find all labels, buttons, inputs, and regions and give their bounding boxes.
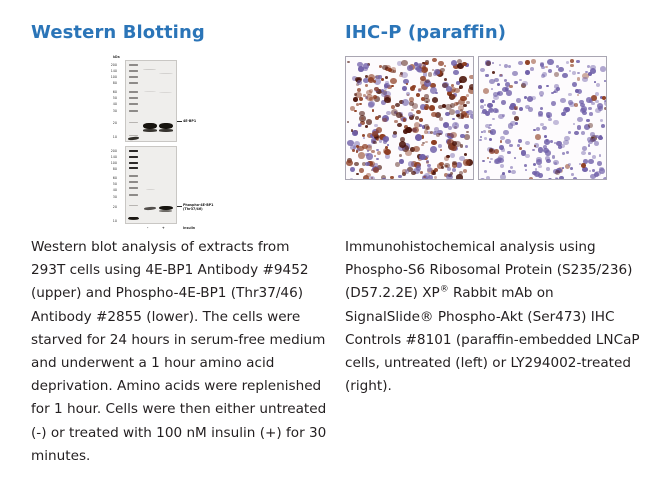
ihc-stained-nucleus <box>560 98 566 103</box>
lane-artifact <box>144 91 156 92</box>
ihc-stained-nucleus <box>382 65 388 71</box>
ihc-stained-nucleus <box>569 70 571 72</box>
ihc-stained-nucleus <box>460 144 464 148</box>
ihc-stained-nucleus <box>426 155 429 158</box>
ihc-stained-nucleus <box>574 103 578 107</box>
ladder-value-30-lower: 30 <box>106 196 117 200</box>
ihc-stained-nucleus <box>453 70 458 75</box>
marker-band <box>129 70 138 72</box>
ihc-stained-nucleus <box>428 72 433 77</box>
ihc-stained-nucleus <box>546 85 549 88</box>
ihc-stained-nucleus <box>450 132 457 138</box>
ihc-stained-nucleus <box>499 64 502 66</box>
ihc-stained-nucleus <box>599 154 602 157</box>
ihc-stained-nucleus <box>463 169 467 173</box>
ihc-stained-nucleus <box>434 176 437 179</box>
ihc-stained-nucleus <box>443 122 449 128</box>
ihc-stained-nucleus <box>560 144 565 149</box>
ihc-stained-nucleus <box>354 110 356 112</box>
ladder-value-40-lower: 40 <box>106 189 117 193</box>
ihc-stained-nucleus <box>358 152 365 158</box>
ihc-stained-nucleus <box>466 131 469 134</box>
ihc-stained-nucleus <box>588 159 594 165</box>
ihc-stained-nucleus <box>582 77 587 82</box>
ladder-value-20-lower: 20 <box>106 206 117 210</box>
ihc-stained-nucleus <box>503 130 509 135</box>
ihc-stained-nucleus <box>444 65 446 67</box>
ihc-stained-nucleus <box>518 139 522 143</box>
ihc-stained-nucleus <box>489 79 495 85</box>
ihc-panel-ly294002-treated <box>478 56 607 180</box>
lane-label-plus: + <box>162 226 165 230</box>
ladder-value-100: 100 <box>106 76 117 80</box>
ihc-stained-nucleus <box>544 135 547 138</box>
ihc-stained-nucleus <box>589 170 591 172</box>
ihc-stained-nucleus <box>562 73 567 78</box>
ihc-stained-nucleus <box>480 99 484 103</box>
ihc-stained-nucleus <box>347 61 350 64</box>
ihc-stained-nucleus <box>588 144 591 147</box>
ladder-value-140: 140 <box>106 70 117 74</box>
ihc-stained-nucleus <box>347 121 350 124</box>
ihc-stained-nucleus <box>514 81 518 84</box>
lane-artifact <box>159 92 172 93</box>
ihc-stained-nucleus <box>577 72 580 75</box>
ihc-stained-nucleus <box>568 163 572 167</box>
ihc-stained-nucleus <box>375 76 378 79</box>
ihc-stained-nucleus <box>369 97 373 101</box>
ihc-stained-nucleus <box>602 96 606 100</box>
ihc-stained-nucleus <box>363 63 369 69</box>
ihc-stained-nucleus <box>398 175 402 179</box>
ladder-value-10: 10 <box>106 136 117 140</box>
ihc-stained-nucleus <box>484 170 488 173</box>
ihc-stained-nucleus <box>574 131 579 136</box>
ihc-stained-nucleus <box>426 161 429 164</box>
ihc-stained-nucleus <box>412 127 419 134</box>
ihc-stained-nucleus <box>532 149 535 151</box>
ihc-stained-nucleus <box>390 78 397 84</box>
ihc-stained-nucleus <box>545 66 548 69</box>
ihc-stained-nucleus <box>518 61 523 66</box>
ihc-stained-nucleus <box>392 134 397 139</box>
ihc-stained-nucleus <box>407 65 413 71</box>
ihc-stained-nucleus <box>467 110 473 115</box>
ihc-figure <box>345 56 645 236</box>
ihc-stained-nucleus <box>371 179 377 180</box>
ihc-stained-nucleus <box>562 152 565 155</box>
ihc-stained-nucleus <box>368 102 374 108</box>
ihc-stained-nucleus <box>351 129 354 131</box>
caption-western-blotting: Western blot analysis of extracts from 2… <box>31 236 327 468</box>
ihc-stained-nucleus <box>446 174 453 180</box>
ihc-stained-nucleus <box>452 122 459 129</box>
ihc-stained-nucleus <box>449 109 455 115</box>
ihc-stained-nucleus <box>510 121 516 126</box>
caption-ihc-part2: Rabbit mAb on SignalSlide® Phospho-Akt (… <box>345 285 640 394</box>
ihc-stained-nucleus <box>383 136 389 142</box>
ihc-stained-nucleus <box>582 111 587 115</box>
ladder-value-80: 80 <box>106 82 117 86</box>
ihc-stained-nucleus <box>600 66 606 72</box>
ihc-stained-nucleus <box>373 141 377 145</box>
ihc-stained-nucleus <box>356 173 359 175</box>
ihc-stained-nucleus <box>501 100 506 105</box>
ihc-stained-nucleus <box>579 100 584 104</box>
ihc-stained-nucleus <box>588 152 591 155</box>
ihc-stained-nucleus <box>391 85 393 87</box>
ihc-stained-nucleus <box>586 119 590 123</box>
ihc-stained-nucleus <box>439 133 442 136</box>
ihc-stained-nucleus <box>525 154 530 158</box>
ihc-stained-nucleus <box>531 59 537 64</box>
ihc-stained-nucleus <box>555 177 558 180</box>
ihc-stained-nucleus <box>440 149 443 152</box>
ihc-stained-nucleus <box>411 109 414 112</box>
ihc-stained-nucleus <box>566 61 569 64</box>
ladder-value-50: 50 <box>106 97 117 101</box>
ihc-stained-nucleus <box>450 145 457 151</box>
ihc-stained-nucleus <box>511 170 516 175</box>
ihc-stained-nucleus <box>482 160 484 162</box>
marker-band <box>129 167 138 169</box>
ladder-value-20: 20 <box>106 122 117 126</box>
ihc-stained-nucleus <box>377 151 382 156</box>
ladder-value-30: 30 <box>106 110 117 114</box>
marker-band <box>129 97 138 99</box>
ihc-stained-nucleus <box>382 178 386 180</box>
ihc-stained-nucleus <box>570 64 574 68</box>
ihc-stained-nucleus <box>374 163 377 166</box>
marker-band <box>129 150 138 152</box>
ihc-stained-nucleus <box>352 149 355 152</box>
ihc-stained-nucleus <box>564 136 570 141</box>
ihc-stained-nucleus <box>604 107 607 110</box>
figure-page: Western Blotting kDa 200 140 100 80 60 5… <box>0 0 646 494</box>
ihc-stained-nucleus <box>541 66 545 70</box>
ihc-stained-nucleus <box>595 100 599 103</box>
ihc-stained-nucleus <box>452 168 456 172</box>
ihc-stained-nucleus <box>365 162 370 166</box>
ihc-stained-nucleus <box>439 117 444 122</box>
upper-target-label: 4E-BP1 <box>183 119 196 123</box>
ihc-stained-nucleus <box>492 62 494 64</box>
ladder-value-40: 40 <box>106 103 117 107</box>
ihc-stained-nucleus <box>452 141 458 146</box>
ihc-stained-nucleus <box>535 134 541 140</box>
ihc-stained-nucleus <box>500 140 503 143</box>
ihc-stained-nucleus <box>356 145 359 148</box>
ihc-stained-nucleus <box>498 114 504 120</box>
ihc-stained-nucleus <box>563 108 569 113</box>
ihc-stained-nucleus <box>596 83 600 87</box>
ihc-stained-nucleus <box>493 108 498 113</box>
lane-artifact <box>159 73 173 74</box>
ihc-stained-nucleus <box>384 87 387 90</box>
ihc-stained-nucleus <box>384 149 391 155</box>
ihc-stained-nucleus <box>536 127 540 131</box>
ihc-stained-nucleus <box>395 103 400 107</box>
ihc-stained-nucleus <box>582 146 587 151</box>
ladder-value-200: 200 <box>106 64 117 68</box>
ihc-stained-nucleus <box>371 150 375 154</box>
ladder-value-60: 60 <box>106 91 117 95</box>
ihc-stained-nucleus <box>581 163 587 168</box>
ihc-stained-nucleus <box>438 144 442 148</box>
ihc-stained-nucleus <box>431 112 437 117</box>
ihc-stained-nucleus <box>420 171 423 174</box>
ihc-stained-nucleus <box>375 116 379 120</box>
ihc-stained-nucleus <box>415 134 422 141</box>
ihc-stained-nucleus <box>500 164 504 168</box>
ihc-stained-nucleus <box>456 81 460 85</box>
ihc-stained-nucleus <box>366 119 372 125</box>
ihc-stained-nucleus <box>366 90 372 96</box>
ihc-stained-nucleus <box>522 81 528 87</box>
marker-band <box>129 205 138 206</box>
ihc-stained-nucleus <box>492 100 495 103</box>
ihc-stained-nucleus <box>487 157 489 159</box>
ihc-stained-nucleus <box>445 133 449 137</box>
caption-ihc-p: Immunohistochemical analysis using Phosp… <box>345 236 641 398</box>
ihc-stained-nucleus <box>589 112 593 116</box>
ihc-stained-nucleus <box>554 84 559 89</box>
ihc-stained-nucleus <box>539 91 545 96</box>
ihc-stained-nucleus <box>495 158 501 164</box>
ihc-stained-nucleus <box>391 67 397 72</box>
ihc-stained-nucleus <box>577 117 582 122</box>
ihc-stained-nucleus <box>497 83 500 86</box>
ihc-stained-nucleus <box>346 160 353 167</box>
ihc-stained-nucleus <box>378 75 382 78</box>
ihc-stained-nucleus <box>399 154 402 157</box>
ihc-stained-nucleus <box>521 150 527 155</box>
ihc-stained-nucleus <box>365 84 368 87</box>
ihc-stained-nucleus <box>416 93 420 97</box>
ihc-stained-nucleus <box>577 94 579 96</box>
ihc-stained-nucleus <box>483 88 489 94</box>
ihc-stained-nucleus <box>597 161 602 166</box>
ihc-stained-nucleus <box>480 68 485 73</box>
ihc-stained-nucleus <box>382 118 386 122</box>
ihc-stained-nucleus <box>359 97 364 101</box>
ihc-stained-nucleus <box>572 71 576 75</box>
ihc-stained-nucleus <box>547 115 550 118</box>
ihc-stained-nucleus <box>412 103 418 109</box>
ihc-stained-nucleus <box>426 101 428 103</box>
marker-band <box>129 82 138 84</box>
ihc-stained-nucleus <box>606 167 607 171</box>
ihc-stained-nucleus <box>459 76 466 83</box>
ihc-stained-nucleus <box>485 74 489 78</box>
ihc-stained-nucleus <box>454 102 458 106</box>
kda-axis-label: kDa <box>113 55 120 59</box>
ihc-stained-nucleus <box>350 167 355 172</box>
ihc-panel-untreated <box>345 56 474 180</box>
ihc-stained-nucleus <box>373 167 380 173</box>
ihc-stained-nucleus <box>548 178 552 180</box>
ihc-stained-nucleus <box>357 88 362 92</box>
ihc-stained-nucleus <box>421 144 424 147</box>
ihc-stained-nucleus <box>508 65 511 68</box>
ihc-stained-nucleus <box>576 60 580 64</box>
ihc-stained-nucleus <box>512 111 516 115</box>
ihc-stained-nucleus <box>444 78 447 81</box>
ihc-stained-nucleus <box>427 167 432 172</box>
ihc-stained-nucleus <box>489 138 493 141</box>
target-band-insulin-lower <box>159 129 173 132</box>
ihc-stained-nucleus <box>529 177 534 180</box>
marker-band <box>129 156 138 158</box>
ihc-stained-nucleus <box>519 147 522 150</box>
ihc-stained-nucleus <box>363 137 366 139</box>
ihc-stained-nucleus <box>401 72 408 79</box>
ihc-stained-nucleus <box>464 134 470 140</box>
ihc-stained-nucleus <box>424 124 430 129</box>
ihc-stained-nucleus <box>397 123 402 127</box>
ihc-stained-nucleus <box>530 67 534 71</box>
ihc-stained-nucleus <box>432 172 436 176</box>
ihc-stained-nucleus <box>359 103 362 106</box>
ihc-stained-nucleus <box>514 106 518 109</box>
ihc-stained-nucleus <box>524 164 527 167</box>
ihc-stained-nucleus <box>555 170 560 175</box>
ihc-stained-nucleus <box>573 177 577 180</box>
ihc-stained-nucleus <box>492 71 496 74</box>
ihc-stained-nucleus <box>514 157 517 159</box>
ihc-stained-nucleus <box>525 141 529 145</box>
ihc-stained-nucleus <box>489 161 492 164</box>
ihc-stained-nucleus <box>494 149 499 154</box>
ihc-stained-nucleus <box>419 118 424 123</box>
ihc-stained-nucleus <box>554 162 558 165</box>
ihc-stained-nucleus <box>546 167 550 171</box>
ihc-stained-nucleus <box>553 120 559 126</box>
ihc-stained-nucleus <box>542 72 548 77</box>
ihc-stained-nucleus <box>486 61 492 66</box>
ihc-stained-nucleus <box>431 140 437 146</box>
ihc-stained-nucleus <box>406 179 411 180</box>
ihc-stained-nucleus <box>571 173 574 175</box>
ihc-stained-nucleus <box>480 136 482 138</box>
ihc-stained-nucleus <box>452 161 457 165</box>
ihc-stained-nucleus <box>416 110 421 114</box>
ihc-stained-nucleus <box>603 177 608 180</box>
ihc-stained-nucleus <box>510 166 514 170</box>
ihc-stained-nucleus <box>374 155 377 157</box>
ihc-stained-nucleus <box>509 144 513 148</box>
ihc-stained-nucleus <box>353 97 358 102</box>
ihc-stained-nucleus <box>473 94 474 99</box>
ihc-stained-nucleus <box>386 111 391 116</box>
lane-artifact <box>146 189 155 190</box>
ihc-stained-nucleus <box>525 60 530 64</box>
ihc-stained-nucleus <box>573 123 575 125</box>
ihc-stained-nucleus <box>464 124 469 128</box>
ihc-stained-nucleus <box>519 107 523 111</box>
ihc-stained-nucleus <box>405 150 411 156</box>
ihc-stained-nucleus <box>363 94 366 97</box>
ihc-stained-nucleus <box>405 169 410 174</box>
ihc-stained-nucleus <box>566 151 569 154</box>
ihc-stained-nucleus <box>469 75 474 80</box>
ihc-stained-nucleus <box>551 101 557 106</box>
ihc-stained-nucleus <box>432 97 438 103</box>
ihc-stained-nucleus <box>568 131 571 134</box>
marker-band <box>129 175 138 177</box>
ihc-stained-nucleus <box>512 71 518 76</box>
ihc-stained-nucleus <box>358 66 364 71</box>
ihc-stained-nucleus <box>577 77 581 80</box>
ihc-stained-nucleus <box>542 126 547 131</box>
ihc-stained-nucleus <box>540 107 543 110</box>
ihc-stained-nucleus <box>590 68 596 74</box>
ihc-stained-nucleus <box>416 166 422 171</box>
ihc-stained-nucleus <box>581 151 586 156</box>
ihc-stained-nucleus <box>411 171 416 176</box>
ihc-stained-nucleus <box>362 134 365 137</box>
ihc-stained-nucleus <box>525 70 530 75</box>
blot-panel-lower <box>125 146 177 224</box>
ihc-stained-nucleus <box>359 168 364 173</box>
ihc-stained-nucleus <box>594 172 599 177</box>
ihc-stained-nucleus <box>561 112 565 116</box>
ihc-stained-nucleus <box>424 130 428 134</box>
ihc-stained-nucleus <box>604 80 606 82</box>
ihc-stained-nucleus <box>570 167 573 170</box>
target-band-untreated-lower <box>143 129 157 132</box>
ihc-stained-nucleus <box>486 176 491 180</box>
ihc-stained-nucleus <box>430 146 437 153</box>
ihc-stained-nucleus <box>570 59 574 63</box>
ihc-stained-nucleus <box>444 156 449 161</box>
panel-ihc-p: IHC-P (paraffin) Immunohistochemical ana… <box>345 0 645 236</box>
ihc-stained-nucleus <box>491 88 494 91</box>
ihc-stained-nucleus <box>350 178 353 180</box>
ihc-stained-nucleus <box>538 85 542 89</box>
ihc-stained-nucleus <box>559 176 564 180</box>
ihc-stained-nucleus <box>464 153 467 156</box>
ihc-stained-nucleus <box>356 150 359 153</box>
ihc-stained-nucleus <box>466 101 469 104</box>
ihc-stained-nucleus <box>456 174 463 180</box>
ihc-stained-nucleus <box>372 109 375 112</box>
ihc-stained-nucleus <box>450 94 456 100</box>
ihc-stained-nucleus <box>594 141 599 146</box>
marker-band <box>129 162 138 164</box>
ihc-stained-nucleus <box>365 125 368 128</box>
ihc-stained-nucleus <box>439 162 444 166</box>
ihc-stained-nucleus <box>367 150 370 153</box>
ladder-value-140-lower: 140 <box>106 156 117 160</box>
marker-band <box>129 76 138 78</box>
western-blot-image: kDa 200 140 100 80 60 50 40 30 20 10 200 <box>104 56 216 229</box>
ihc-stained-nucleus <box>434 69 441 75</box>
ihc-stained-nucleus <box>402 86 408 91</box>
ihc-stained-nucleus <box>483 130 486 133</box>
ihc-stained-nucleus <box>547 59 553 65</box>
marker-smear <box>128 136 139 140</box>
ihc-stained-nucleus <box>516 98 522 103</box>
ihc-stained-nucleus <box>419 154 426 161</box>
ihc-stained-nucleus <box>588 107 592 110</box>
panel-western-blotting: Western Blotting kDa 200 140 100 80 60 5… <box>31 0 331 236</box>
marker-band <box>129 187 138 189</box>
ihc-stained-nucleus <box>399 159 404 164</box>
ihc-stained-nucleus <box>601 124 605 128</box>
ihc-stained-nucleus <box>599 168 605 174</box>
ihc-stained-nucleus <box>598 106 604 111</box>
